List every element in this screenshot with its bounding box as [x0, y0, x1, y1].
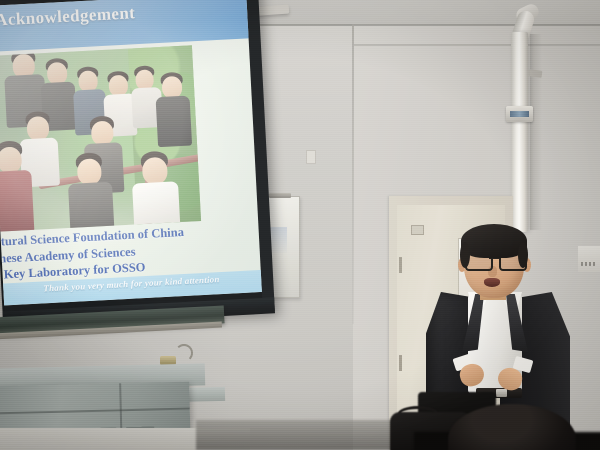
pipe-collar-label — [510, 111, 529, 117]
photo-scene: Acknowledgement — [0, 0, 600, 450]
photo-person — [154, 72, 192, 146]
door-hinge-upper — [399, 257, 402, 273]
screen-surface: Acknowledgement — [0, 0, 262, 311]
pipe-shadow — [530, 34, 542, 230]
wall-corner-edge — [352, 24, 354, 324]
wall-seam-line — [354, 44, 600, 46]
baseboard-scuff — [196, 420, 396, 450]
drain-pipe — [511, 32, 528, 232]
presentation-slide: Acknowledgement — [0, 0, 262, 306]
wall-switch-plate[interactable] — [306, 150, 316, 164]
presenter-hair-side-left — [460, 242, 470, 268]
projection-screen: Acknowledgement — [0, 0, 275, 326]
door-hinge-lower — [399, 355, 402, 371]
pipe-collar — [506, 106, 533, 122]
photo-person — [66, 152, 114, 230]
wall-hook-wire — [175, 344, 193, 362]
cabinet-seam — [0, 408, 190, 415]
presenter-mouth — [484, 278, 500, 287]
ceiling-edge-line — [232, 24, 600, 26]
notice-board-clip — [269, 193, 291, 198]
presenter-belt-buckle — [496, 389, 507, 397]
photo-person — [130, 150, 180, 228]
photo-person — [0, 140, 34, 232]
slide-group-photo — [0, 45, 201, 231]
presenter-hair-side-right — [518, 242, 528, 268]
